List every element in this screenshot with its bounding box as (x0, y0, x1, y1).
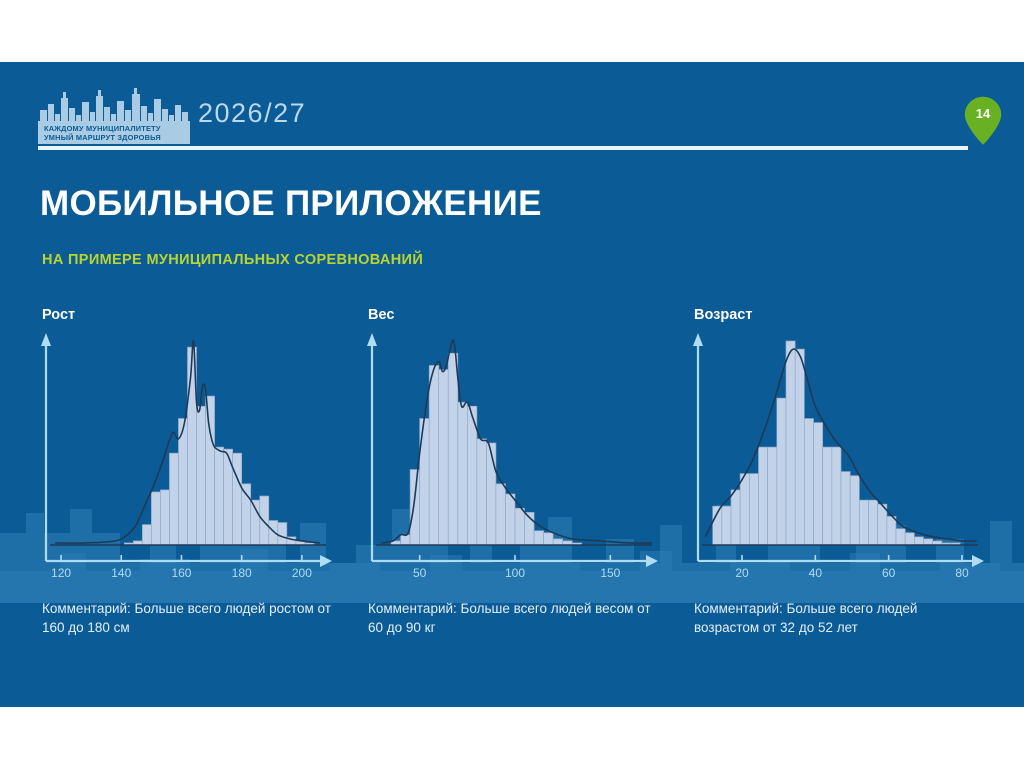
page-title: МОБИЛЬНОЕ ПРИЛОЖЕНИЕ (40, 184, 542, 224)
histogram-bar (795, 349, 804, 545)
x-axis-tick-label: 60 (882, 566, 896, 578)
x-axis-tick-label: 50 (413, 566, 427, 578)
histogram-bar (544, 533, 554, 545)
histogram-plot[interactable]: 120140160180200 (36, 333, 336, 578)
histogram-bar (142, 525, 151, 545)
histogram-bar (777, 398, 786, 545)
chart-caption: Комментарий: Больше всего людей возрасто… (694, 599, 986, 637)
histogram-bar (429, 365, 439, 545)
x-axis-tick-label: 120 (51, 566, 71, 578)
histogram-bar (832, 447, 841, 545)
histogram-bar (878, 504, 887, 545)
chart-card-age: Возраст 20406080 Комментарий: Больше все… (688, 307, 998, 647)
x-axis-tick-label: 160 (171, 566, 191, 578)
y-axis-arrow-icon (41, 333, 51, 346)
chart-title: Возраст (694, 307, 752, 323)
x-axis-arrow-icon (320, 555, 332, 567)
histogram-bar (905, 533, 914, 545)
header-divider (38, 146, 968, 150)
histogram-bar (731, 490, 740, 545)
histogram-bar (859, 500, 868, 545)
city-skyline-icon (38, 88, 190, 124)
chart-card-weight: Вес 50100150 Комментарий: Больше всего л… (362, 307, 672, 647)
x-axis-arrow-icon (972, 555, 984, 567)
histogram-bar (169, 453, 178, 545)
histogram-bar (749, 474, 758, 545)
histogram-bar (496, 484, 506, 545)
histogram-bar (242, 484, 251, 545)
slide-canvas: КАЖДОМУ МУНИЦИПАЛИТЕТУ УМНЫЙ МАРШРУТ ЗДО… (0, 62, 1024, 707)
slide-number-badge: 14 (962, 106, 1004, 121)
histogram-bar (233, 453, 242, 545)
histogram-bar (269, 521, 278, 545)
histogram-bar (924, 539, 933, 545)
chart-caption: Комментарий: Больше всего людей ростом о… (42, 599, 334, 637)
chart-caption: Комментарий: Больше всего людей весом от… (368, 599, 660, 637)
chart-title: Вес (368, 307, 394, 323)
histogram-bar (206, 396, 215, 545)
season-year-label: 2026/27 (198, 98, 306, 129)
histogram-bar (278, 523, 287, 545)
x-axis-tick-label: 80 (955, 566, 969, 578)
histogram-bar (486, 443, 496, 545)
histogram-bar (553, 539, 563, 545)
x-axis-tick-label: 200 (292, 566, 312, 578)
histogram-bar (759, 447, 768, 545)
y-axis-arrow-icon (693, 333, 703, 346)
x-axis-tick-label: 20 (735, 566, 749, 578)
histogram-bar (869, 500, 878, 545)
x-axis-tick-label: 140 (111, 566, 131, 578)
map-pin-icon[interactable] (962, 94, 1004, 148)
x-axis-tick-label: 40 (809, 566, 823, 578)
histogram-bar (160, 490, 169, 545)
histogram-bar (914, 537, 923, 545)
histogram-bar (410, 470, 420, 545)
x-axis-tick-label: 180 (232, 566, 252, 578)
histogram-bar (768, 447, 777, 545)
histogram-bar (722, 506, 731, 545)
histogram-plot[interactable]: 20406080 (688, 333, 988, 578)
histogram-bar (197, 406, 206, 545)
histogram-bar (887, 516, 896, 545)
brand-logo[interactable]: КАЖДОМУ МУНИЦИПАЛИТЕТУ УМНЫЙ МАРШРУТ ЗДО… (38, 88, 190, 144)
histogram-bar (439, 370, 449, 545)
histogram-bar (260, 496, 269, 545)
chart-card-height: Рост 120140160180200 Комментарий: Больше… (36, 307, 346, 647)
x-axis-tick-label: 150 (600, 566, 620, 578)
histogram-bar (401, 535, 411, 545)
chart-title: Рост (42, 307, 75, 323)
histogram-bar (786, 341, 795, 545)
histogram-bar (823, 447, 832, 545)
histogram-bar (534, 531, 544, 545)
histogram-bar (814, 423, 823, 545)
histogram-bar (841, 472, 850, 545)
histogram-bar (215, 447, 224, 545)
page-subtitle: НА ПРИМЕРЕ МУНИЦИПАЛЬНЫХ СОРЕВНОВАНИЙ (42, 252, 423, 268)
slide-header: КАЖДОМУ МУНИЦИПАЛИТЕТУ УМНЫЙ МАРШРУТ ЗДО… (0, 62, 1024, 152)
histogram-plot[interactable]: 50100150 (362, 333, 662, 578)
histogram-bar (477, 439, 487, 545)
histogram-bar (804, 419, 813, 545)
histogram-bar (740, 474, 749, 545)
logo-line-1: КАЖДОМУ МУНИЦИПАЛИТЕТУ (44, 124, 186, 133)
x-axis-tick-label: 100 (505, 566, 525, 578)
histogram-bar (896, 529, 905, 545)
x-axis-arrow-icon (646, 555, 658, 567)
logo-line-2: УМНЫЙ МАРШРУТ ЗДОРОВЬЯ (44, 133, 186, 142)
histogram-bar (448, 353, 458, 545)
histogram-bar (850, 476, 859, 545)
histogram-bar (458, 402, 468, 545)
histogram-bar (505, 494, 515, 545)
histogram-bars (124, 347, 314, 545)
y-axis-arrow-icon (367, 333, 377, 346)
histogram-bar (151, 492, 160, 545)
histogram-bar (515, 508, 525, 545)
